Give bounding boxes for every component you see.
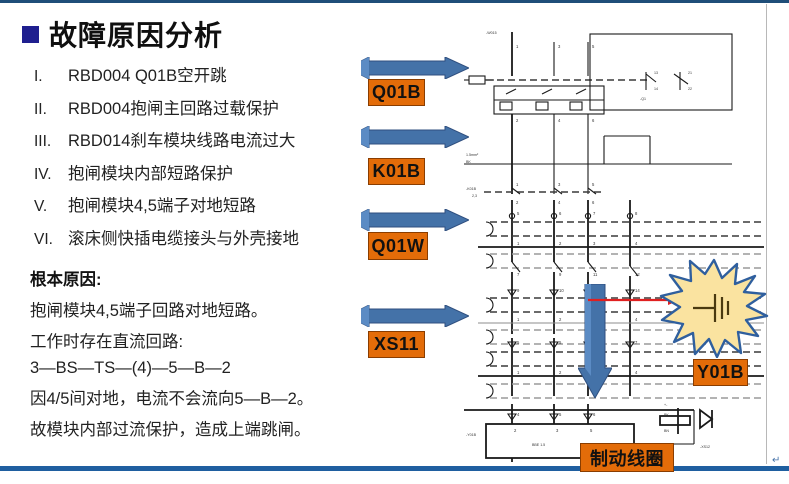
callout-y01b[interactable]: Y01B: [693, 359, 748, 386]
svg-text:4: 4: [635, 241, 638, 246]
svg-text:3: 3: [558, 182, 561, 187]
list-item-label: RBD004抱闸主回路过载保护: [68, 95, 279, 119]
svg-text:BK: BK: [664, 413, 669, 417]
svg-text:3: 3: [593, 241, 596, 246]
svg-text:8: 8: [635, 211, 638, 216]
svg-text:-K01B: -K01B: [466, 187, 477, 191]
svg-text:9: 9: [517, 288, 520, 293]
svg-text:14: 14: [635, 288, 640, 293]
svg-text:4: 4: [517, 412, 520, 417]
root-cause-line: 工作时存在直流回路:: [30, 328, 375, 352]
callout-q01w[interactable]: Q01W: [368, 232, 428, 260]
svg-text:2: 2: [516, 118, 519, 123]
svg-text:-XS12: -XS12: [700, 445, 710, 449]
svg-text:2: 2: [514, 428, 517, 433]
svg-text:2: 2: [559, 317, 562, 322]
svg-text:22: 22: [688, 87, 692, 91]
svg-text:3: 3: [558, 44, 561, 49]
callout-q01b-label: Q01B: [372, 82, 421, 103]
root-cause-line: 抱闸模块4,5端子回路对地短路。: [30, 297, 375, 321]
svg-text:5: 5: [592, 44, 595, 49]
list-item: I. RBD004 Q01B空开跳: [34, 62, 364, 86]
svg-text:1: 1: [517, 370, 520, 375]
svg-text:4: 4: [635, 317, 638, 322]
top-divider-rule: [0, 0, 789, 3]
root-cause-line: 3—BS—TS—(4)—5—B—2: [30, 359, 375, 378]
svg-text:11: 11: [593, 272, 598, 277]
svg-text:-W015: -W015: [486, 31, 497, 35]
list-item-label: 抱闸模块内部短路保护: [68, 160, 233, 184]
svg-text:2: 2: [559, 370, 562, 375]
list-item-label: RBD004 Q01B空开跳: [68, 62, 227, 86]
list-item-label: 抱闸模块4,5端子对地短路: [68, 192, 256, 216]
svg-text:10: 10: [559, 288, 564, 293]
svg-text:+-: +-: [664, 403, 668, 407]
arrow-q01b: [361, 57, 469, 79]
list-item: IV. 抱闸模块内部短路保护: [34, 160, 364, 184]
slide-canvas: ↵ 故障原因分析 I. RBD004 Q01B空开跳 II. RBD004抱闸主…: [0, 0, 789, 484]
svg-text:-Y01B: -Y01B: [466, 433, 477, 437]
svg-text:6: 6: [559, 211, 562, 216]
svg-text:-Q1: -Q1: [640, 97, 646, 101]
svg-text:5: 5: [517, 340, 520, 345]
svg-text:2,3: 2,3: [472, 194, 477, 198]
list-item: II. RBD004抱闸主回路过载保护: [34, 95, 364, 119]
fault-explosion-icon: [659, 258, 769, 358]
svg-text:14: 14: [654, 87, 658, 91]
svg-text:5: 5: [559, 412, 562, 417]
svg-text:1: 1: [516, 44, 519, 49]
right-border-line: [766, 4, 767, 464]
list-item-label: RBD014刹车模块线路电流过大: [68, 127, 295, 151]
svg-text:1.5mm²: 1.5mm²: [466, 153, 479, 157]
svg-text:9: 9: [559, 272, 562, 277]
svg-text:13: 13: [654, 71, 658, 75]
svg-text:BN: BN: [664, 429, 669, 433]
paragraph-mark: ↵: [772, 455, 780, 466]
svg-text:6: 6: [592, 118, 595, 123]
svg-text:1: 1: [517, 241, 520, 246]
list-item-number: V.: [34, 198, 68, 216]
svg-text:1: 1: [517, 317, 520, 322]
callout-k01b[interactable]: K01B: [368, 158, 425, 185]
svg-text:BBE 1.5: BBE 1.5: [532, 443, 545, 447]
list-item-number: II.: [34, 101, 68, 119]
root-cause-heading: 根本原因:: [30, 266, 375, 290]
svg-text:1: 1: [516, 182, 519, 187]
callout-brake-coil[interactable]: 制动线圈: [580, 443, 674, 472]
svg-text:BK: BK: [466, 160, 471, 164]
root-cause-line: 因4/5间对地，电流不会流向5—B—2。: [30, 385, 375, 409]
svg-text:7: 7: [517, 272, 520, 277]
callout-q01b[interactable]: Q01B: [368, 79, 425, 106]
page-title: 故障原因分析: [22, 14, 223, 54]
list-item-number: I.: [34, 68, 68, 86]
square-bullet-icon: [22, 26, 39, 43]
svg-text:4: 4: [635, 370, 638, 375]
svg-text:2: 2: [516, 200, 519, 205]
list-item: VI. 滚床侧快插电缆接头与外壳接地: [34, 225, 364, 249]
page-title-text: 故障原因分析: [49, 14, 223, 54]
svg-text:7: 7: [593, 211, 596, 216]
svg-text:2: 2: [559, 241, 562, 246]
list-item: V. 抱闸模块4,5端子对地短路: [34, 192, 364, 216]
arrow-k01b: [361, 126, 469, 148]
svg-text:4: 4: [558, 118, 561, 123]
root-cause-line: 故模块内部过流保护，造成上端跳闸。: [30, 416, 375, 440]
root-cause-block: 根本原因: 抱闸模块4,5端子回路对地短路。 工作时存在直流回路: 3—BS—T…: [30, 266, 375, 447]
svg-text:6: 6: [593, 412, 596, 417]
svg-text:6: 6: [592, 200, 595, 205]
list-item: III. RBD014刹车模块线路电流过大: [34, 127, 364, 151]
cause-list: I. RBD004 Q01B空开跳 II. RBD004抱闸主回路过载保护 II…: [34, 62, 364, 257]
callout-xs11-label: XS11: [374, 334, 419, 355]
list-item-label: 滚床侧快插电缆接头与外壳接地: [68, 225, 299, 249]
callout-q01w-label: Q01W: [371, 236, 424, 257]
svg-text:21: 21: [688, 71, 692, 75]
arrow-q01w: [361, 209, 469, 231]
callout-k01b-label: K01B: [372, 161, 420, 182]
list-item-number: VI.: [34, 231, 68, 249]
circuit-diagram: .sl{stroke:#1a1a1a;stroke-width:1.1;fill…: [464, 4, 764, 462]
svg-text:5: 5: [590, 428, 593, 433]
list-item-number: III.: [34, 133, 68, 151]
svg-text:4: 4: [558, 200, 561, 205]
callout-xs11[interactable]: XS11: [368, 331, 425, 358]
callout-brake-coil-label: 制动线圈: [590, 445, 664, 471]
svg-text:5: 5: [517, 211, 520, 216]
arrow-xs11: [361, 305, 469, 327]
svg-text:5: 5: [592, 182, 595, 187]
callout-y01b-label: Y01B: [697, 362, 744, 383]
svg-text:3: 3: [556, 428, 559, 433]
list-item-number: IV.: [34, 166, 68, 184]
